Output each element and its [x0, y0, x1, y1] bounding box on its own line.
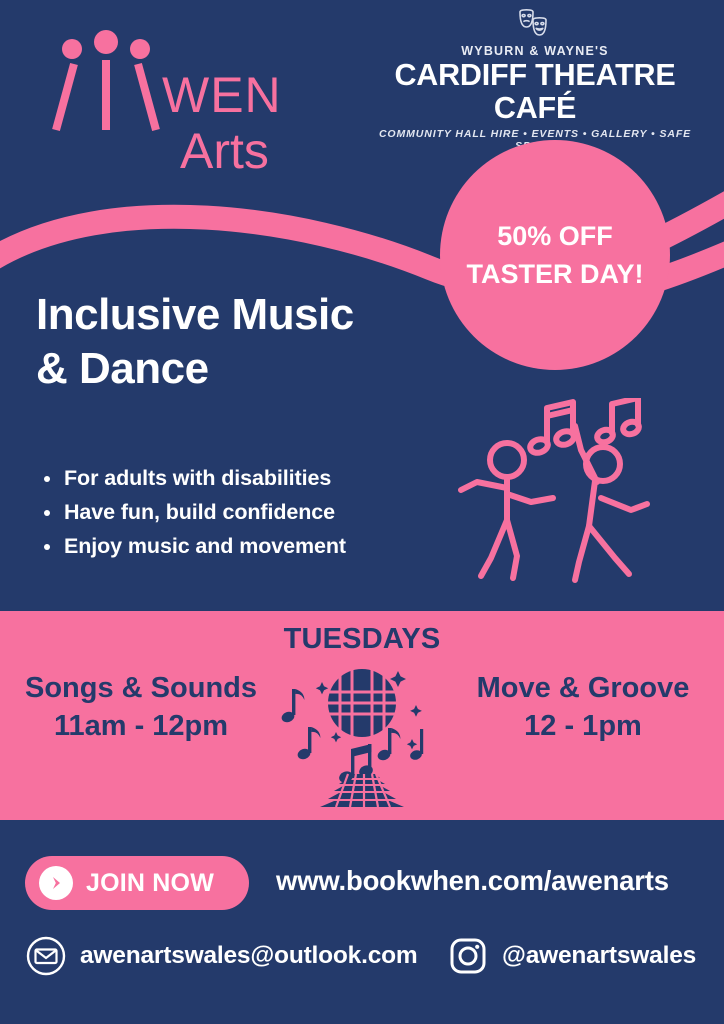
disco-ball-icon — [264, 659, 460, 809]
instagram-handle: @awenartswales — [502, 942, 696, 970]
offer-badge: 50% OFF TASTER DAY! — [440, 140, 670, 370]
dancing-figures-icon — [455, 398, 675, 588]
awen-symbol-icon — [48, 18, 168, 138]
session-time: 12 - 1pm — [438, 707, 724, 745]
cta-row: JOIN NOW www.bookwhen.com/awenarts — [0, 856, 724, 912]
cardiff-theatre-cafe-logo: WYBURN & WAYNE'S CARDIFF THEATRE CAFÉ CO… — [370, 8, 700, 152]
awen-arts-logo: WEN Arts — [48, 18, 348, 198]
headline-line-1: Inclusive Music — [36, 288, 466, 342]
join-now-label: JOIN NOW — [86, 869, 214, 898]
list-item: For adults with disabilities — [64, 462, 494, 496]
offer-line-2: TASTER DAY! — [466, 255, 643, 293]
contact-email[interactable]: awenartswales@outlook.com — [26, 936, 418, 976]
session-name: Songs & Sounds — [0, 669, 286, 707]
page-title: Inclusive Music & Dance — [36, 288, 466, 395]
schedule-band: TUESDAYS Songs & Sounds 11am - 12pm Move… — [0, 611, 724, 820]
headline-line-2: & Dance — [36, 342, 466, 396]
session-songs-and-sounds: Songs & Sounds 11am - 12pm — [0, 669, 286, 746]
poster-canvas: WEN Arts WYBURN & WAYNE'S CARDIFF THEATR… — [0, 0, 724, 1024]
session-move-and-groove: Move & Groove 12 - 1pm — [438, 669, 724, 746]
envelope-icon — [26, 936, 66, 976]
contacts-row: awenartswales@outlook.com @awenartswales — [0, 936, 724, 992]
email-address: awenartswales@outlook.com — [80, 942, 418, 970]
instagram-icon — [448, 936, 488, 976]
partner-main-line: CARDIFF THEATRE CAFÉ — [370, 59, 700, 125]
join-now-button[interactable]: JOIN NOW — [25, 856, 249, 910]
theatre-masks-icon — [512, 8, 558, 42]
partner-pre-line: WYBURN & WAYNE'S — [370, 44, 700, 58]
booking-url-link[interactable]: www.bookwhen.com/awenarts — [276, 865, 669, 897]
session-time: 11am - 12pm — [0, 707, 286, 745]
awen-wordmark: WEN — [162, 70, 282, 120]
list-item: Enjoy music and movement — [64, 530, 494, 564]
contact-instagram[interactable]: @awenartswales — [448, 936, 696, 976]
list-item: Have fun, build confidence — [64, 496, 494, 530]
feature-list: For adults with disabilities Have fun, b… — [36, 462, 494, 564]
schedule-day-label: TUESDAYS — [0, 623, 724, 656]
offer-line-1: 50% OFF — [497, 217, 613, 255]
chevron-right-icon — [39, 866, 73, 900]
session-name: Move & Groove — [438, 669, 724, 707]
awen-sub-wordmark: Arts — [180, 126, 269, 176]
